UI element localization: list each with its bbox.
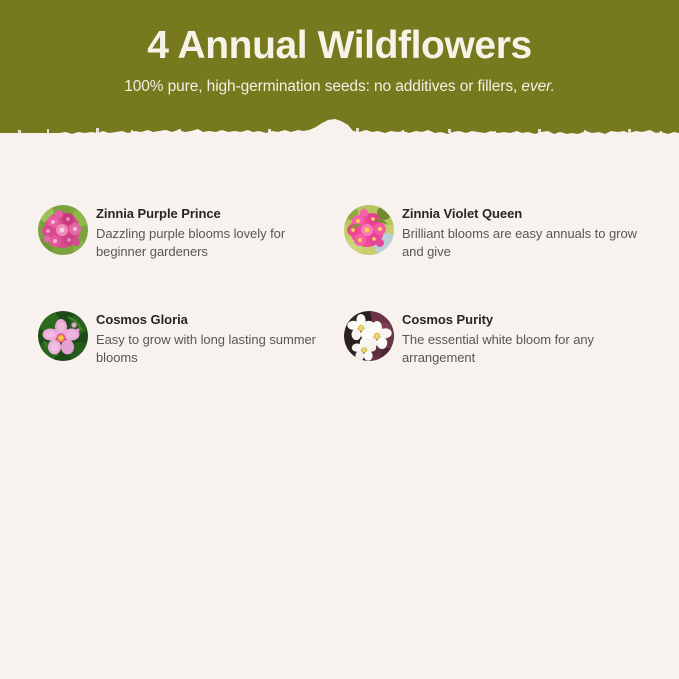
feature-item-cosmos-gloria[interactable]: Cosmos Gloria Easy to grow with long las… xyxy=(38,302,344,408)
feature-title: Cosmos Gloria xyxy=(96,311,336,329)
feature-text: Cosmos Gloria Easy to grow with long las… xyxy=(88,302,336,367)
cosmos-gloria-photo xyxy=(38,311,88,361)
feature-text: Cosmos Purity The essential white bloom … xyxy=(394,302,642,367)
product-feature-panel: 4 Annual Wildflowers 100% pure, high-ger… xyxy=(0,0,679,679)
subtitle-lead: 100% pure, high-germination seeds: no ad… xyxy=(124,78,517,95)
feature-description: The essential white bloom for any arrang… xyxy=(402,329,642,368)
feature-text: Zinnia Purple Prince Dazzling purple blo… xyxy=(88,196,336,261)
page-title: 4 Annual Wildflowers xyxy=(0,0,679,65)
feature-title: Zinnia Purple Prince xyxy=(96,205,336,223)
feature-item-cosmos-purity[interactable]: Cosmos Purity The essential white bloom … xyxy=(344,302,650,408)
feature-description: Easy to grow with long lasting summer bl… xyxy=(96,329,336,368)
thumbnail-artwork xyxy=(38,205,88,255)
zinnia-purple-prince-photo xyxy=(38,205,88,255)
feature-title: Zinnia Violet Queen xyxy=(402,205,642,223)
feature-item-zinnia-violet-queen[interactable]: Zinnia Violet Queen Brilliant blooms are… xyxy=(344,196,650,302)
thumbnail-artwork xyxy=(344,205,394,255)
cosmos-purity-photo xyxy=(344,311,394,361)
feature-item-zinnia-purple-prince[interactable]: Zinnia Purple Prince Dazzling purple blo… xyxy=(38,196,344,302)
thumbnail-artwork xyxy=(38,311,88,361)
feature-description: Dazzling purple blooms lovely for beginn… xyxy=(96,223,336,262)
zinnia-violet-queen-photo xyxy=(344,205,394,255)
feature-grid: Zinnia Purple Prince Dazzling purple blo… xyxy=(0,196,679,408)
page-subtitle: 100% pure, high-germination seeds: no ad… xyxy=(0,65,679,97)
feature-text: Zinnia Violet Queen Brilliant blooms are… xyxy=(394,196,642,261)
feature-title: Cosmos Purity xyxy=(402,311,642,329)
banner-text-block: 4 Annual Wildflowers 100% pure, high-ger… xyxy=(0,0,679,97)
header-banner: 4 Annual Wildflowers 100% pure, high-ger… xyxy=(0,0,679,146)
subtitle-emphasis: ever. xyxy=(521,78,554,95)
feature-description: Brilliant blooms are easy annuals to gro… xyxy=(402,223,642,262)
thumbnail-artwork xyxy=(344,311,394,361)
